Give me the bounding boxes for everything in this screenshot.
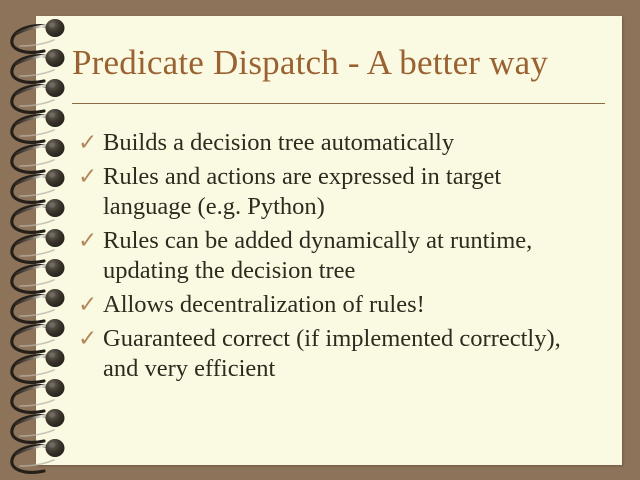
list-item: ✓ Rules and actions are expressed in tar…	[78, 162, 588, 222]
checkmark-icon: ✓	[78, 290, 100, 320]
title-divider	[72, 103, 605, 104]
page-title: Predicate Dispatch - A better way	[72, 44, 612, 83]
checkmark-icon: ✓	[78, 324, 100, 354]
list-item: ✓ Rules can be added dynamically at runt…	[78, 226, 588, 286]
list-item-label: Builds a decision tree automatically	[103, 128, 588, 158]
list-item: ✓ Builds a decision tree automatically	[78, 128, 588, 158]
title-block: Predicate Dispatch - A better way	[72, 44, 612, 83]
checkmark-icon: ✓	[78, 226, 100, 256]
list-item-label: Guaranteed correct (if implemented corre…	[103, 324, 588, 384]
checkmark-icon: ✓	[78, 128, 100, 158]
slide-canvas: Predicate Dispatch - A better way ✓ Buil…	[0, 0, 640, 480]
checkmark-icon: ✓	[78, 162, 100, 192]
list-item: ✓ Allows decentralization of rules!	[78, 290, 588, 320]
bullet-list: ✓ Builds a decision tree automatically ✓…	[78, 128, 588, 388]
list-item: ✓ Guaranteed correct (if implemented cor…	[78, 324, 588, 384]
list-item-label: Rules can be added dynamically at runtim…	[103, 226, 588, 286]
list-item-label: Allows decentralization of rules!	[103, 290, 588, 320]
list-item-label: Rules and actions are expressed in targe…	[103, 162, 588, 222]
